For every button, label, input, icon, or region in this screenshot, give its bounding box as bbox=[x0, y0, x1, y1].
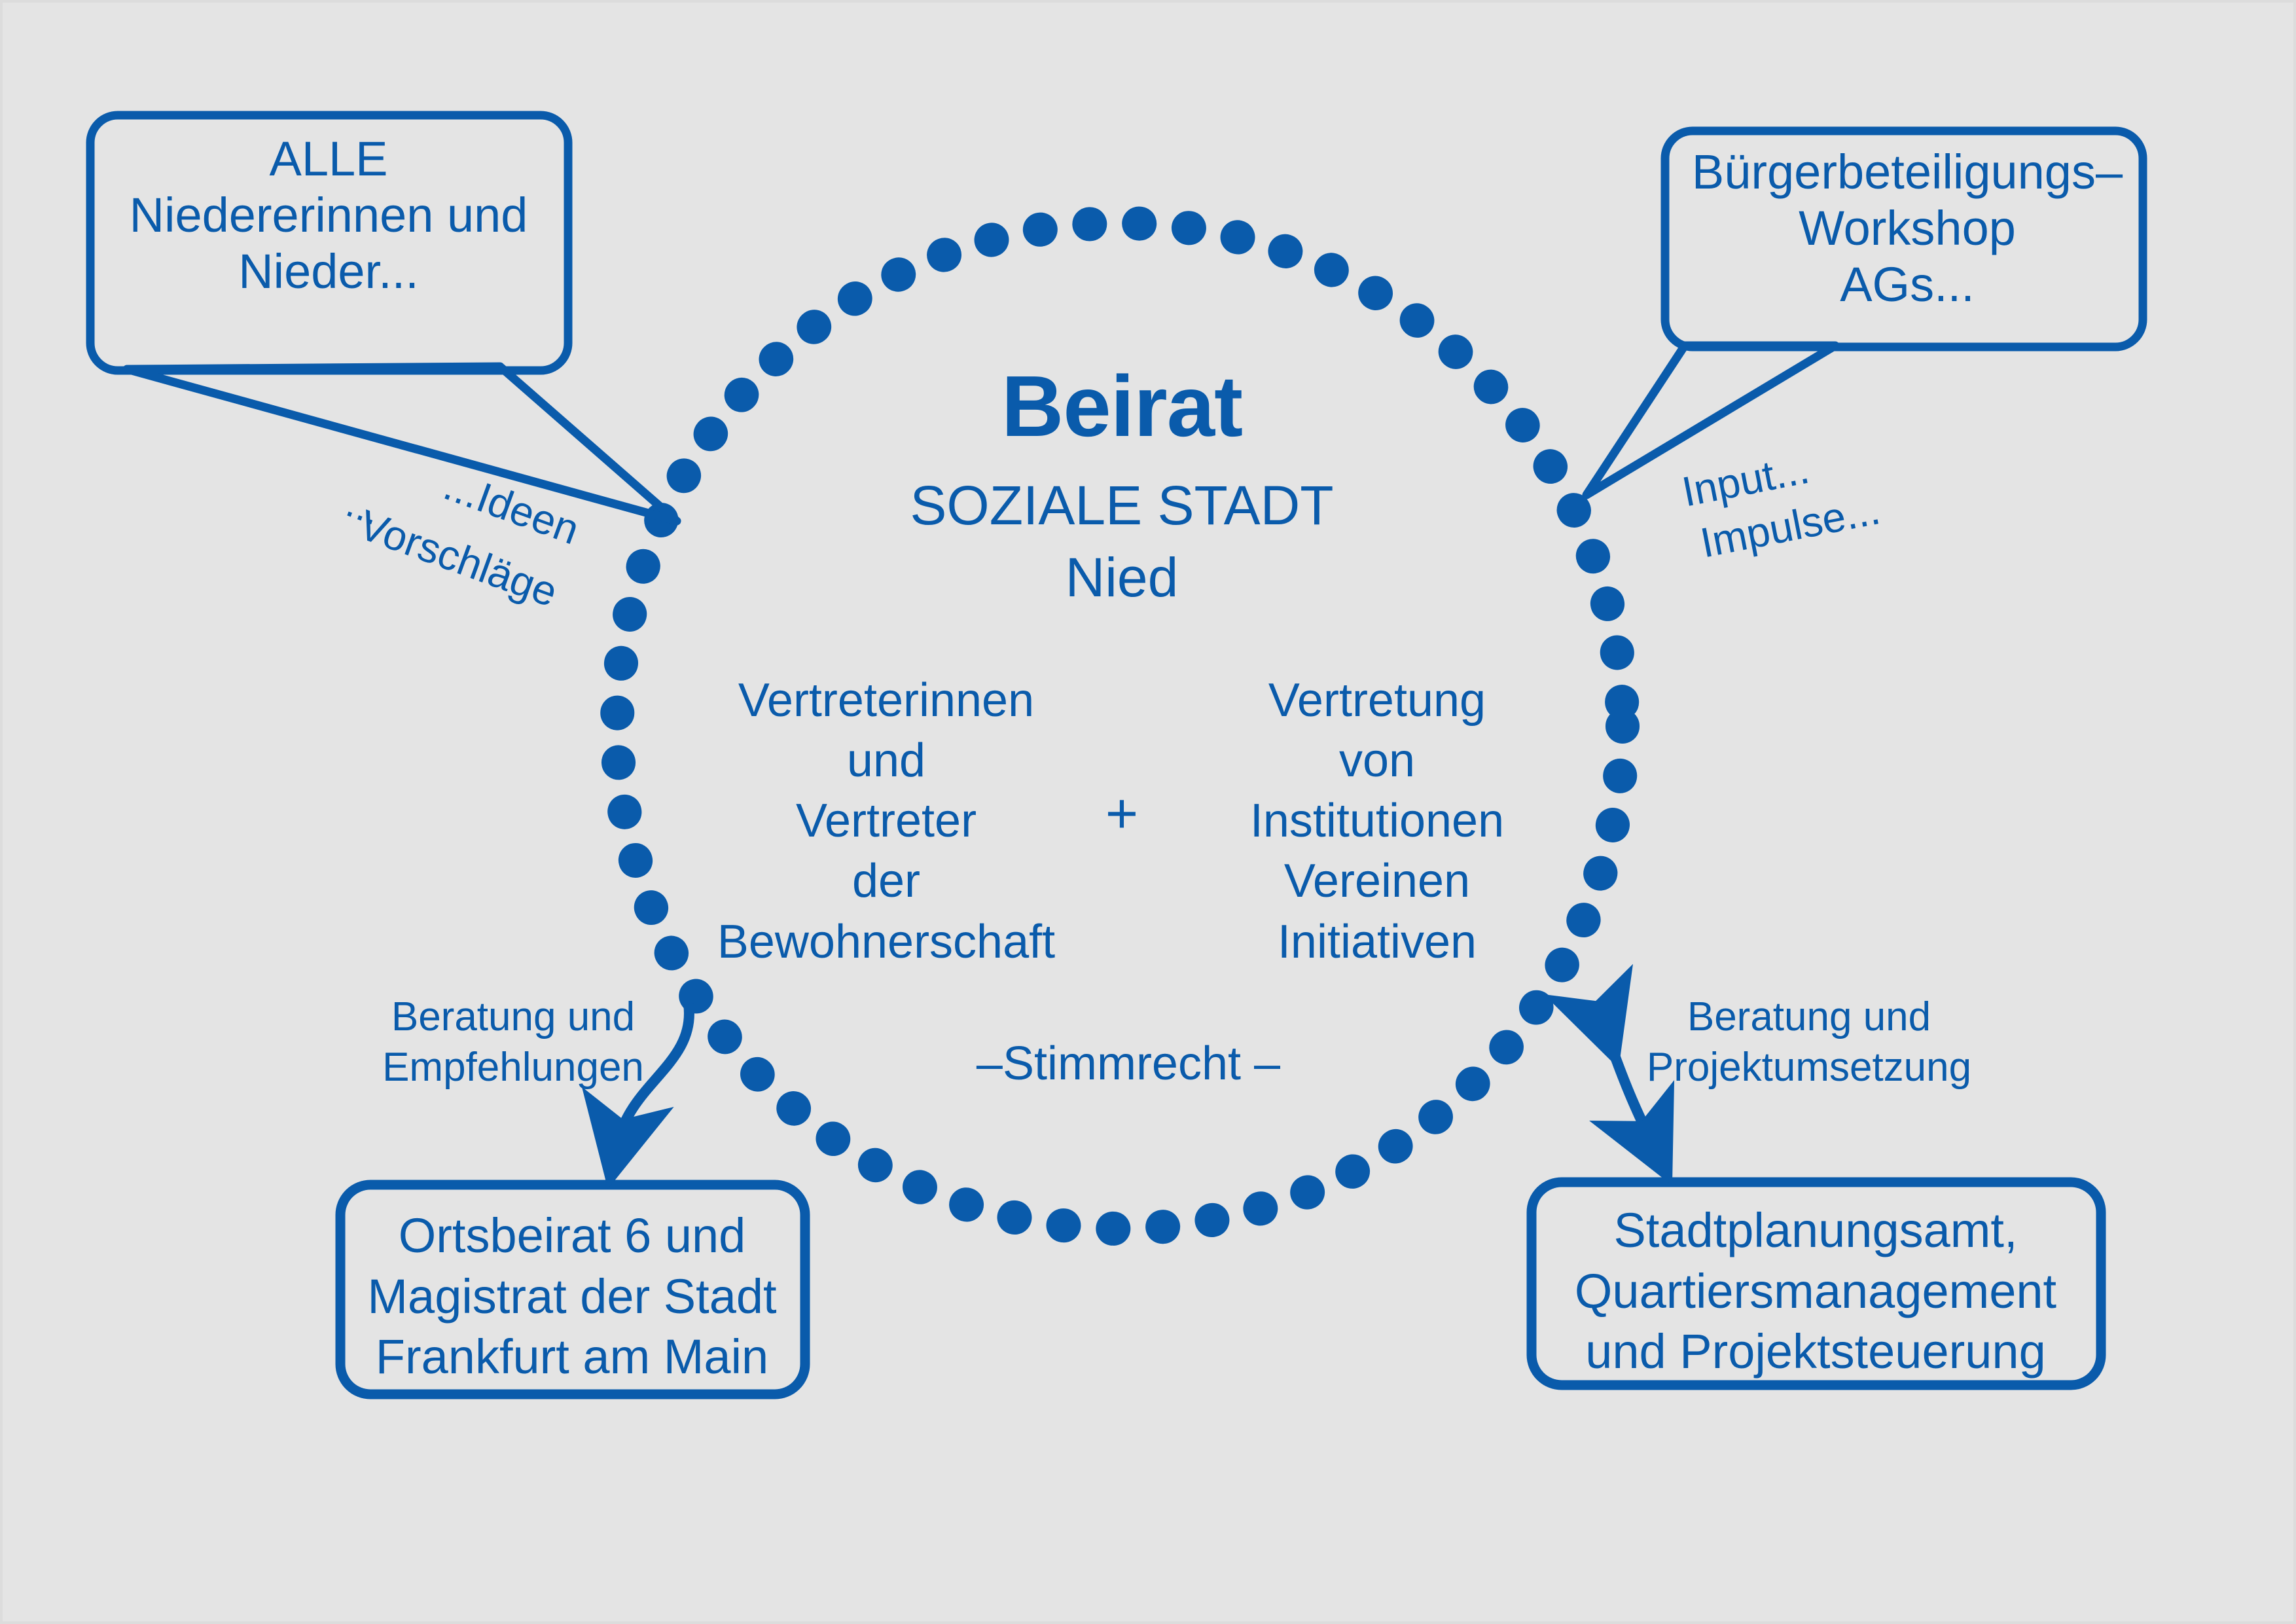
arrow-label-bottom-left: Beratung und Empfehlungen bbox=[369, 992, 657, 1093]
box-bottom-left-text: Ortsbeirat 6 und Magistrat der Stadt Fra… bbox=[343, 1206, 801, 1388]
center-subtitle-line2: Nied bbox=[762, 546, 1482, 609]
bubble-top-right-text: Bürgerbeteiligungs– Workshop AGs... bbox=[1665, 144, 2149, 312]
center-column-right: Vertretung von Institutionen Vereinen In… bbox=[1174, 670, 1580, 972]
center-title: Beirat bbox=[762, 356, 1482, 456]
plus-sign: + bbox=[1076, 782, 1168, 847]
bubble-top-left-text: ALLE Niedererinnen und Nieder... bbox=[86, 131, 571, 299]
stimmrecht-note: –Stimmrecht – bbox=[919, 1037, 1338, 1092]
diagram-canvas: ALLE Niedererinnen und Nieder... Bürgerb… bbox=[0, 0, 2296, 1624]
bubble-tail-left bbox=[127, 367, 677, 521]
center-column-left: Vertreterinnen und Vertreter der Bewohne… bbox=[683, 670, 1089, 972]
arrow-right-double bbox=[1604, 1024, 1652, 1143]
box-bottom-right-text: Stadtplanungsamt, Quartiersmanagement un… bbox=[1541, 1200, 2090, 1382]
arrow-label-bottom-right: Beratung und Projektumsetzung bbox=[1645, 992, 1973, 1093]
center-subtitle-line1: SOZIALE STADT bbox=[762, 474, 1482, 537]
